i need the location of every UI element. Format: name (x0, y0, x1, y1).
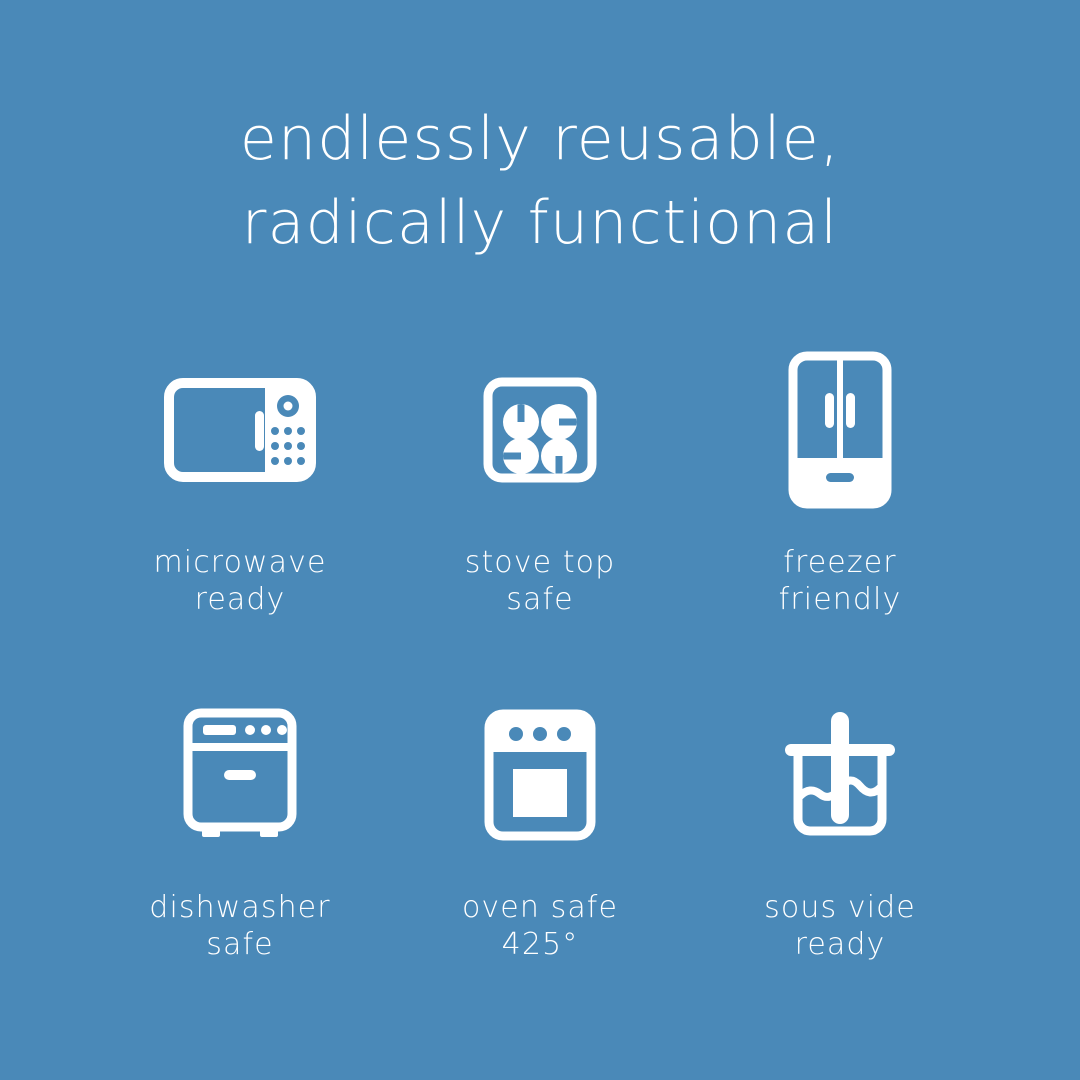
feature-label-line-2: ready (153, 581, 326, 618)
feature-label-line-1: microwave (153, 544, 326, 581)
oven-icon-box (484, 675, 596, 875)
feature-label-line-2: friendly (779, 581, 902, 618)
freezer-icon-box (788, 330, 892, 530)
headline-line-1: endlessly reusable, (0, 97, 1080, 181)
sous-vide-icon (776, 704, 904, 846)
feature-grid: microwave ready stove t (90, 330, 990, 1020)
microwave-icon-box (164, 330, 316, 530)
feature-label-freezer: freezer friendly (779, 544, 902, 618)
feature-oven: oven safe 425° (390, 675, 690, 1020)
feature-dishwasher: dishwasher safe (90, 675, 390, 1020)
feature-label-line-1: stove top (465, 544, 616, 581)
stove-top-icon (483, 377, 597, 483)
microwave-icon (164, 378, 316, 482)
feature-label-dishwasher: dishwasher safe (149, 889, 330, 963)
feature-label-line-1: sous vide (764, 889, 916, 926)
feature-stove-top: stove top safe (390, 330, 690, 675)
promo-graphic: endlessly reusable, radically functional (0, 0, 1080, 1080)
oven-icon (484, 709, 596, 841)
feature-sous-vide: sous vide ready (690, 675, 990, 1020)
feature-label-line-1: freezer (779, 544, 902, 581)
stove-top-icon-box (483, 330, 597, 530)
feature-label-line-1: dishwasher (149, 889, 330, 926)
dishwasher-icon (183, 708, 297, 842)
dishwasher-icon-box (183, 675, 297, 875)
feature-label-stove-top: stove top safe (465, 544, 616, 618)
headline-line-2: radically functional (0, 181, 1080, 265)
sous-vide-icon-box (776, 675, 904, 875)
feature-label-line-2: safe (465, 581, 616, 618)
feature-label-line-2: 425° (462, 926, 618, 963)
page-title: endlessly reusable, radically functional (0, 97, 1080, 265)
feature-microwave: microwave ready (90, 330, 390, 675)
feature-label-oven: oven safe 425° (462, 889, 618, 963)
freezer-icon (788, 351, 892, 509)
feature-label-line-2: safe (149, 926, 330, 963)
feature-label-sous-vide: sous vide ready (764, 889, 916, 963)
feature-label-line-1: oven safe (462, 889, 618, 926)
feature-label-line-2: ready (764, 926, 916, 963)
feature-freezer: freezer friendly (690, 330, 990, 675)
feature-label-microwave: microwave ready (153, 544, 326, 618)
